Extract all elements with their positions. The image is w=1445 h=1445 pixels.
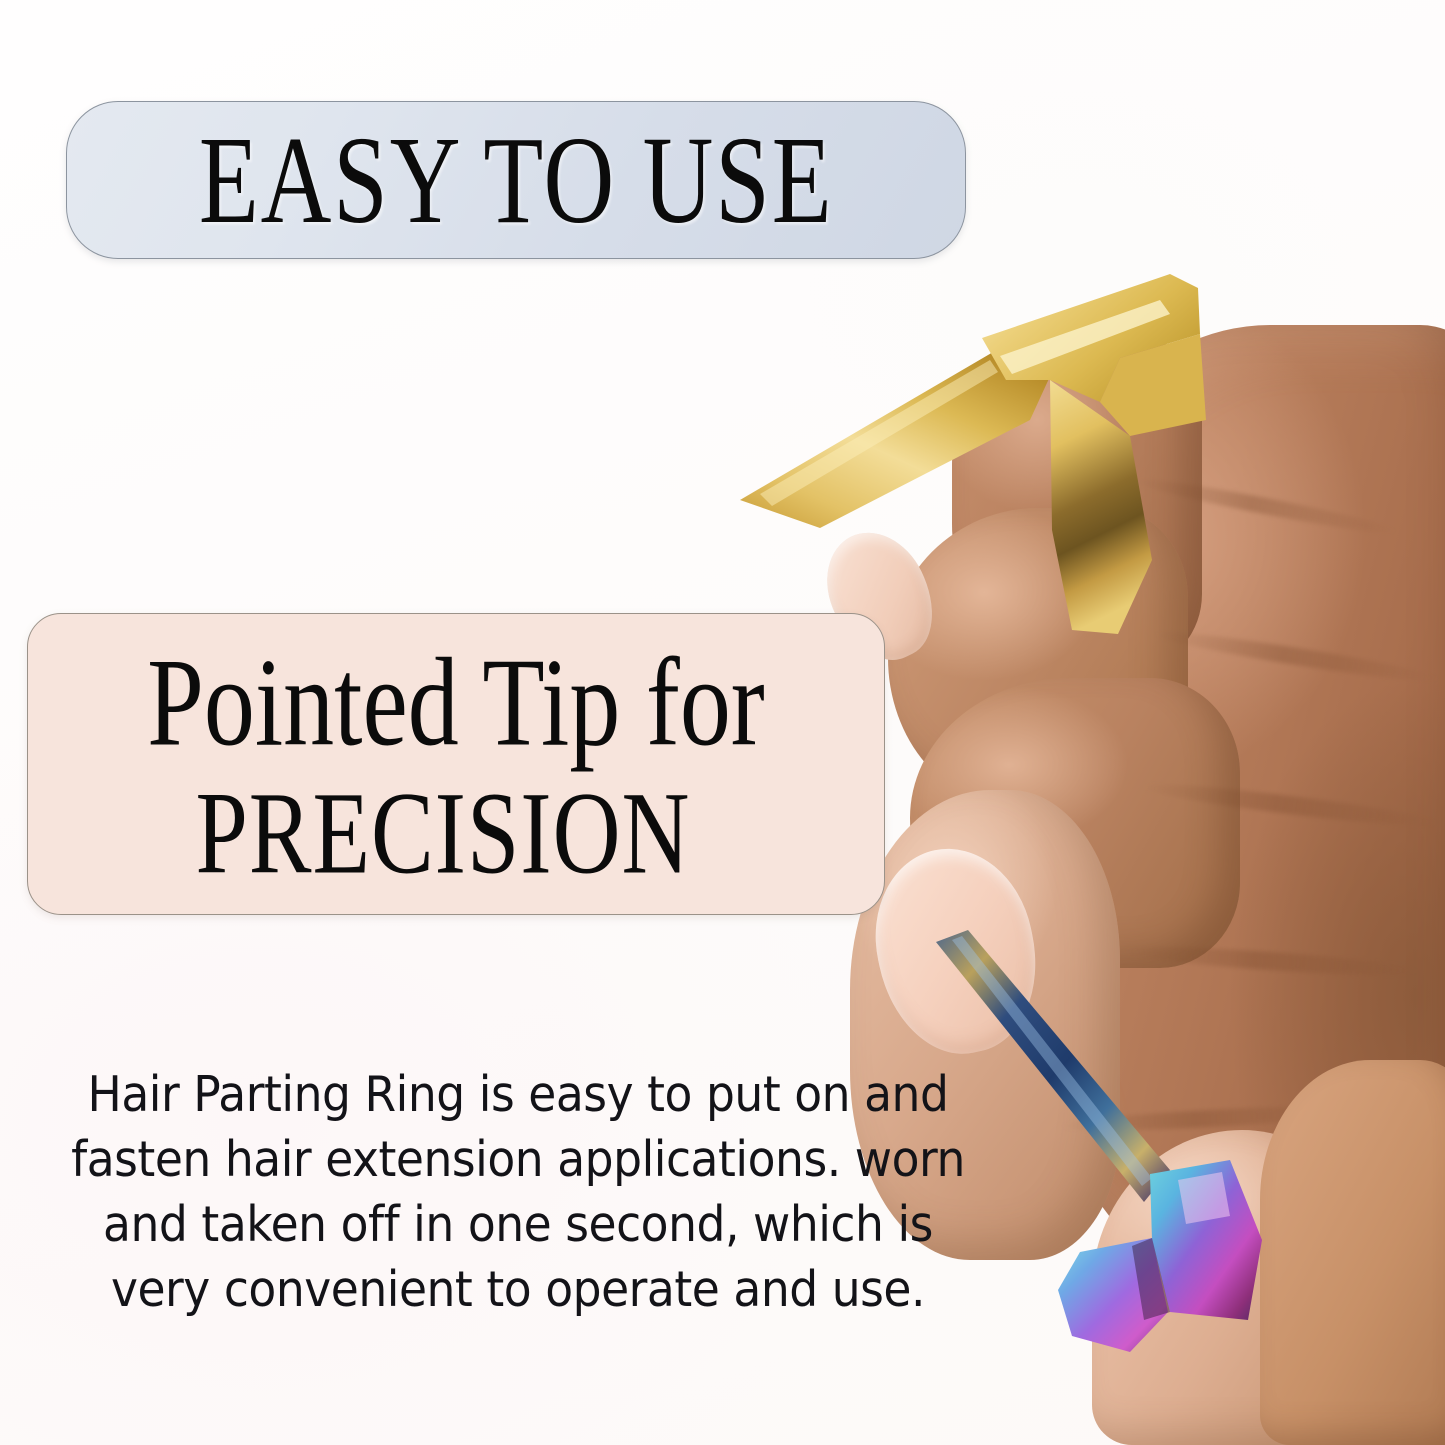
description-paragraph: Hair Parting Ring is easy to put on and … [53,1062,983,1323]
banner-easy-to-use: EASY TO USE [66,101,966,259]
band-highlight [1178,1172,1230,1224]
banner-pointed-tip-precision: Pointed Tip for PRECISION [27,613,885,915]
banner-precision-line-2: PRECISION [196,775,691,893]
banner-precision-line-1: Pointed Tip for [147,639,765,767]
product-feature-image: EASY TO USE Pointed Tip for PRECISION Ha… [0,0,1445,1445]
banner-easy-to-use-headline: EASY TO USE [199,117,834,242]
